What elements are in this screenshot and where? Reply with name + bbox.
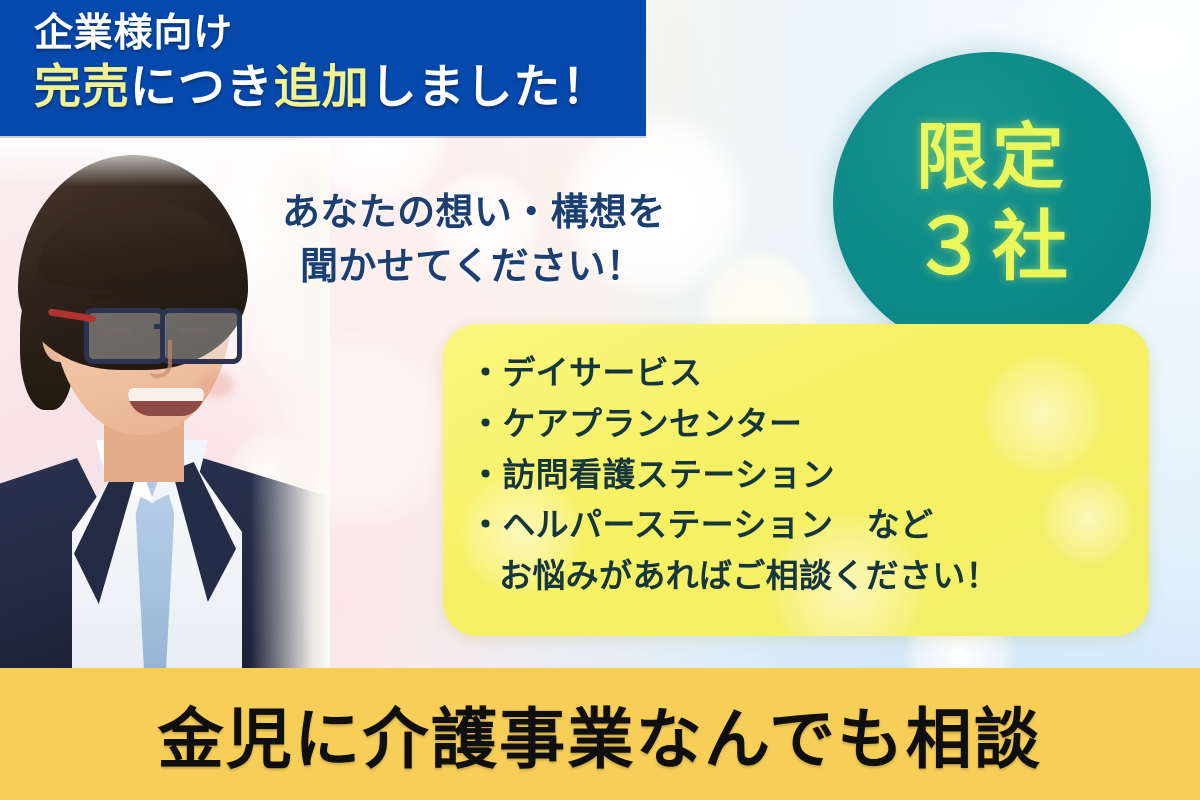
list-footer-text: お悩みがあればご相談ください！ bbox=[469, 551, 1149, 602]
mouth bbox=[128, 388, 204, 416]
teeth bbox=[128, 388, 204, 401]
promo-poster: 企業様向け 完売につき追加しました！ あなたの想い・構想を 聞かせてください！ … bbox=[0, 0, 1200, 800]
list-item: ・ヘルパーステーション など bbox=[469, 500, 1149, 551]
nose bbox=[150, 340, 172, 378]
banner-line-2: 完売につき追加しました！ bbox=[34, 62, 646, 115]
banner-plain-1: につき bbox=[130, 60, 274, 115]
eyeglasses-lens-right bbox=[160, 308, 242, 364]
services-list-box: ・デイサービス ・ケアプランセンター ・訪問看護ステーション ・ヘルパーステーシ… bbox=[443, 324, 1149, 636]
banner-highlight-added: 追加 bbox=[274, 60, 370, 115]
limited-offer-badge: 限定 ３社 bbox=[833, 52, 1151, 355]
banner-plain-2: しました！ bbox=[370, 60, 610, 115]
cheek-blush bbox=[200, 372, 234, 398]
banner-highlight-sold-out: 完売 bbox=[34, 60, 130, 115]
top-blue-banner: 企業様向け 完売につき追加しました！ bbox=[0, 0, 646, 136]
badge-line-limited: 限定 bbox=[916, 115, 1069, 200]
banner-line-1: 企業様向け bbox=[34, 12, 646, 56]
bottom-bar-text: 金児に介護事業なんでも相談 bbox=[158, 686, 1043, 782]
eyeglasses-bridge bbox=[154, 324, 164, 329]
bottom-gold-bar: 金児に介護事業なんでも相談 bbox=[0, 668, 1200, 800]
headline: あなたの想い・構想を 聞かせてください！ bbox=[282, 186, 666, 294]
photo-top-fade bbox=[0, 140, 330, 186]
headline-line-1: あなたの想い・構想を bbox=[282, 190, 666, 234]
badge-line-three-companies: ３社 bbox=[911, 202, 1072, 292]
headline-line-2: 聞かせてください！ bbox=[300, 240, 666, 294]
list-item: ・デイサービス bbox=[469, 348, 1149, 399]
presenter-photo bbox=[0, 140, 330, 670]
list-item: ・ケアプランセンター bbox=[469, 399, 1149, 450]
list-item: ・訪問看護ステーション bbox=[469, 450, 1149, 501]
